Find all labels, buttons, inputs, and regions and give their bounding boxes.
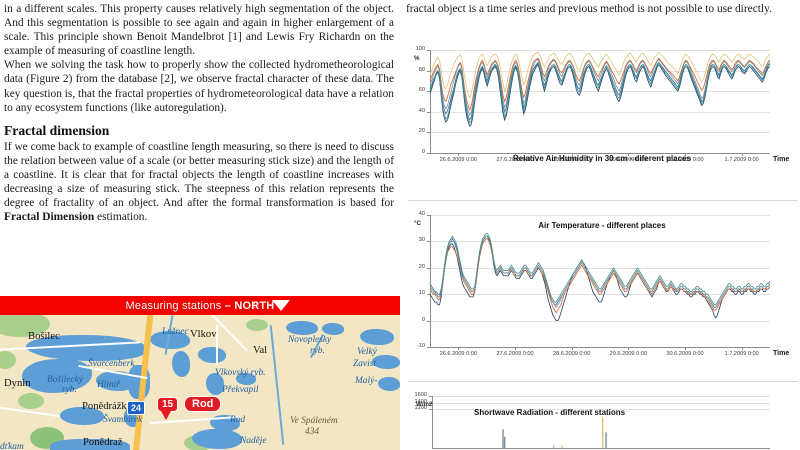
map-banner-dash: – <box>221 300 234 312</box>
right-column: fractal object is a time series and prev… <box>404 0 800 450</box>
forest-patch <box>18 393 44 409</box>
map-label: Překvapil <box>222 385 258 395</box>
map-label: Bošilec <box>28 331 60 342</box>
chart-x-axis-label: Time <box>773 156 789 163</box>
station-name-badge[interactable]: Rod <box>184 396 221 412</box>
map-label: Bošilecký <box>47 375 83 385</box>
chart-x-tickmark <box>515 347 516 350</box>
paragraph-1: in a different scales. This property cau… <box>4 2 394 58</box>
map-label: Lužnec <box>162 327 189 337</box>
chart-x-tickmark <box>572 153 573 156</box>
paragraph-3-bold-term: Fractal Dimension <box>4 211 94 223</box>
map-label: Zavist <box>353 359 376 369</box>
station-number-badge[interactable]: 15 <box>157 397 178 412</box>
map-label: Novoplesky <box>288 335 331 345</box>
section-body-text: If we come back to example of coastline … <box>0 140 400 225</box>
map-label: Vlkovský ryb. <box>215 368 266 378</box>
map-label: Dynin <box>4 378 30 389</box>
map-figure: Measuring stations – NORTH :: <box>0 296 400 450</box>
chart-0-plot-area: 100806040200%Relative Air Humidity in 30… <box>404 42 800 197</box>
water-body <box>378 377 400 391</box>
forest-patch <box>0 351 16 369</box>
chart-x-tickmark <box>742 347 743 350</box>
water-body <box>172 351 190 377</box>
chart-x-tick-label: 26.6.2009 0:00 <box>436 157 480 163</box>
right-body-text: fractal object is a time series and prev… <box>404 0 800 16</box>
map-label: ryb. <box>62 385 77 395</box>
map-label: Švarcenberk <box>88 359 135 369</box>
chart-x-tickmark <box>628 347 629 350</box>
map-label: Ponědraž <box>83 437 122 448</box>
chart-x-tick-label: 29.6.2009 0:00 <box>606 351 650 357</box>
chart-title: Air Temperature - different places <box>404 221 800 230</box>
paragraph-3-part-a: If we come back to example of coastline … <box>4 141 394 209</box>
chart-series-layer <box>404 386 800 450</box>
left-body-text: in a different scales. This property cau… <box>0 0 400 115</box>
water-body <box>372 355 400 369</box>
chart-x-tickmark <box>515 153 516 156</box>
chart-relative-air-humidity: 100806040200%Relative Air Humidity in 30… <box>404 42 800 197</box>
chart-x-tick-label: 1.7.2009 0:00 <box>720 351 764 357</box>
chart-x-tick-label: 30.6.2009 0:00 <box>663 157 707 163</box>
water-body <box>360 329 394 345</box>
chart-x-tickmark <box>458 153 459 156</box>
chart-shortwave-radiation: 160014001200W/m2Shortwave Radiation - di… <box>404 386 800 450</box>
map-label: Rod <box>230 415 245 425</box>
chart-x-tick-label: 28.6.2009 0:00 <box>550 157 594 163</box>
forest-patch <box>246 319 268 331</box>
chart-x-tick-label: 30.6.2009 0:00 <box>663 351 707 357</box>
map-banner: Measuring stations – NORTH :: <box>0 296 400 315</box>
chart-x-tickmark <box>628 153 629 156</box>
chart-title: Shortwave Radiation - different stations <box>474 408 625 417</box>
chart-x-tick-label: 29.6.2009 0:00 <box>606 157 650 163</box>
station-pin-icon <box>161 411 171 420</box>
map-label: dťkam <box>0 442 24 450</box>
chart-x-tickmark <box>685 347 686 350</box>
map-label: Ponědrážka <box>82 401 131 412</box>
chart-x-tick-label: 27.6.2009 0:00 <box>493 351 537 357</box>
map-canvas[interactable]: BošilecDyninVlkovValPonědrážkaPonědražŠv… <box>0 315 400 450</box>
chart-x-axis-label: Time <box>773 350 789 357</box>
map-banner-prefix: Measuring stations <box>126 300 222 312</box>
map-label: Ve Spáleném <box>290 416 338 426</box>
map-label: 434 <box>305 427 319 437</box>
map-label: Naděje <box>240 436 267 446</box>
chart-x-tick-label: 26.6.2009 0:00 <box>436 351 480 357</box>
left-column: in a different scales. This property cau… <box>0 0 400 450</box>
water-body <box>322 323 344 335</box>
map-banner-dots: :: <box>253 300 258 310</box>
chart-x-tickmark <box>458 347 459 350</box>
water-body <box>198 347 226 363</box>
water-body <box>192 429 242 449</box>
paragraph-3: If we come back to example of coastline … <box>4 140 394 225</box>
chart-series-layer <box>404 42 800 197</box>
triangle-down-icon[interactable] <box>272 300 290 311</box>
map-label: Vlkov <box>190 329 216 340</box>
chart-x-tick-label: 27.6.2009 0:00 <box>493 157 537 163</box>
map-label: ryb. <box>310 346 325 356</box>
paragraph-2: When we solving the task how to properly… <box>4 58 394 114</box>
river <box>270 325 285 445</box>
map-label: Val <box>253 345 267 356</box>
chart-air-temperature: 403020100-10°CAir Temperature - differen… <box>404 205 800 377</box>
chart-x-tickmark <box>742 153 743 156</box>
page-root: in a different scales. This property cau… <box>0 0 800 450</box>
chart-x-tick-label: 1.7.2009 0:00 <box>720 157 764 163</box>
road-shield-24: 24 <box>127 401 145 415</box>
figure-divider <box>408 200 798 201</box>
map-label: Hliniř <box>97 380 120 390</box>
paragraph-right-1: fractal object is a time series and prev… <box>406 2 794 16</box>
paragraph-3-part-b: estimation. <box>94 211 147 223</box>
chart-2-plot-area: 160014001200W/m2Shortwave Radiation - di… <box>404 386 800 450</box>
map-label: Velký <box>357 347 377 357</box>
map-label: Švambirek <box>103 415 142 425</box>
chart-x-tick-label: 28.6.2009 0:00 <box>550 351 594 357</box>
chart-x-tickmark <box>572 347 573 350</box>
map-label: Malý- <box>355 376 377 386</box>
chart-series-line <box>430 236 770 307</box>
chart-1-plot-area: 403020100-10°CAir Temperature - differen… <box>404 205 800 377</box>
section-heading-fractal-dimension: Fractal dimension <box>4 123 400 139</box>
water-body <box>286 321 318 335</box>
chart-x-tickmark <box>685 153 686 156</box>
figure-divider <box>408 381 798 382</box>
